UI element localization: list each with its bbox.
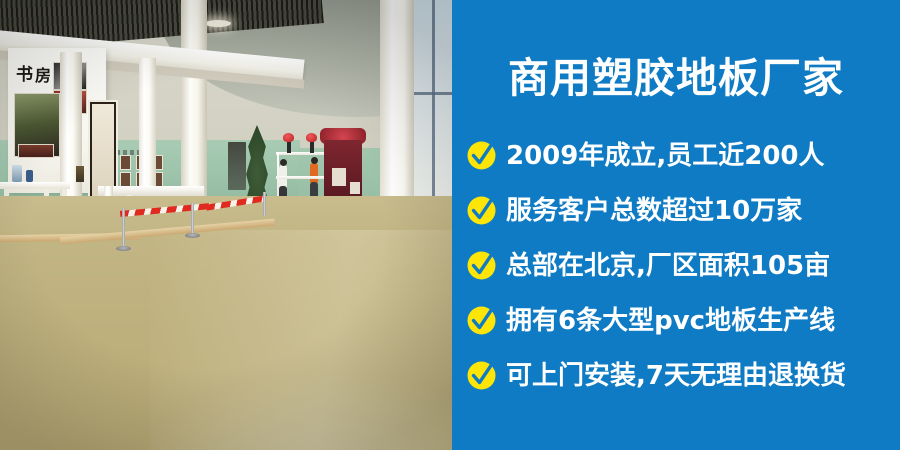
calligraphy-character: 书 — [16, 60, 33, 85]
display-table — [0, 182, 70, 189]
artwork-canvas — [92, 104, 114, 196]
visitor-head — [280, 159, 287, 166]
staff-person-orange — [310, 163, 318, 183]
hall-column — [181, 0, 207, 216]
check-circle-icon — [466, 195, 497, 226]
feature-list: 2009年成立,员工近200人 服务客户总数超过10万家 — [466, 128, 900, 403]
list-item: 总部在北京,厂区面积105亩 — [466, 238, 900, 293]
shelf-post — [277, 152, 279, 202]
showroom-photo: 书 房 — [0, 0, 452, 450]
list-item: 2009年成立,员工近200人 — [466, 128, 900, 183]
check-circle-icon — [466, 360, 497, 391]
window-mullion — [432, 0, 435, 210]
list-item: 可上门安装,7天无理由退换货 — [466, 348, 900, 403]
cabinet-picture — [350, 182, 360, 194]
list-item: 拥有6条大型pvc地板生产线 — [466, 293, 900, 348]
calligraphy-character: 房 — [35, 62, 51, 86]
list-item-label: 2009年成立,员工近200人 — [506, 143, 825, 169]
cabinet-picture — [332, 168, 346, 186]
list-item-label: 拥有6条大型pvc地板生产线 — [506, 308, 835, 334]
barrier-base — [116, 246, 131, 251]
floor-highlight-streak — [150, 230, 452, 450]
glass-object — [12, 165, 22, 182]
info-panel: 商用塑胶地板厂家 2009年成立,员工近200人 — [452, 0, 900, 450]
check-circle-icon — [466, 250, 497, 281]
display-shelf — [276, 152, 328, 155]
panel-title: 商用塑胶地板厂家 — [452, 58, 900, 99]
list-item-label: 可上门安装,7天无理由退换货 — [506, 363, 846, 389]
list-item-label: 总部在北京,厂区面积105亩 — [506, 253, 830, 279]
blue-vase — [26, 170, 33, 182]
framed-artwork — [88, 100, 118, 200]
check-circle-icon — [466, 305, 497, 336]
ceiling-light — [205, 20, 231, 27]
barrier-base — [185, 233, 200, 238]
promo-banner: 书 房 — [0, 0, 900, 450]
red-flower — [306, 133, 317, 142]
poster-photo-strip — [18, 144, 54, 158]
staff-head — [311, 157, 318, 164]
wall-calligraphy-scroll — [228, 142, 246, 190]
check-circle-icon — [466, 140, 497, 171]
red-flower — [283, 133, 294, 142]
table-ornament — [76, 166, 84, 182]
barrier-post — [263, 192, 266, 216]
wall-frame — [120, 155, 131, 170]
display-shelf — [276, 176, 328, 179]
pavilion-beam — [98, 186, 204, 196]
list-item-label: 服务客户总数超过10万家 — [506, 198, 802, 224]
barrier-post — [191, 203, 194, 235]
wall-frame — [120, 172, 131, 187]
list-item: 服务客户总数超过10万家 — [466, 183, 900, 238]
window-mullion — [414, 92, 452, 95]
barrier-post — [122, 208, 125, 248]
